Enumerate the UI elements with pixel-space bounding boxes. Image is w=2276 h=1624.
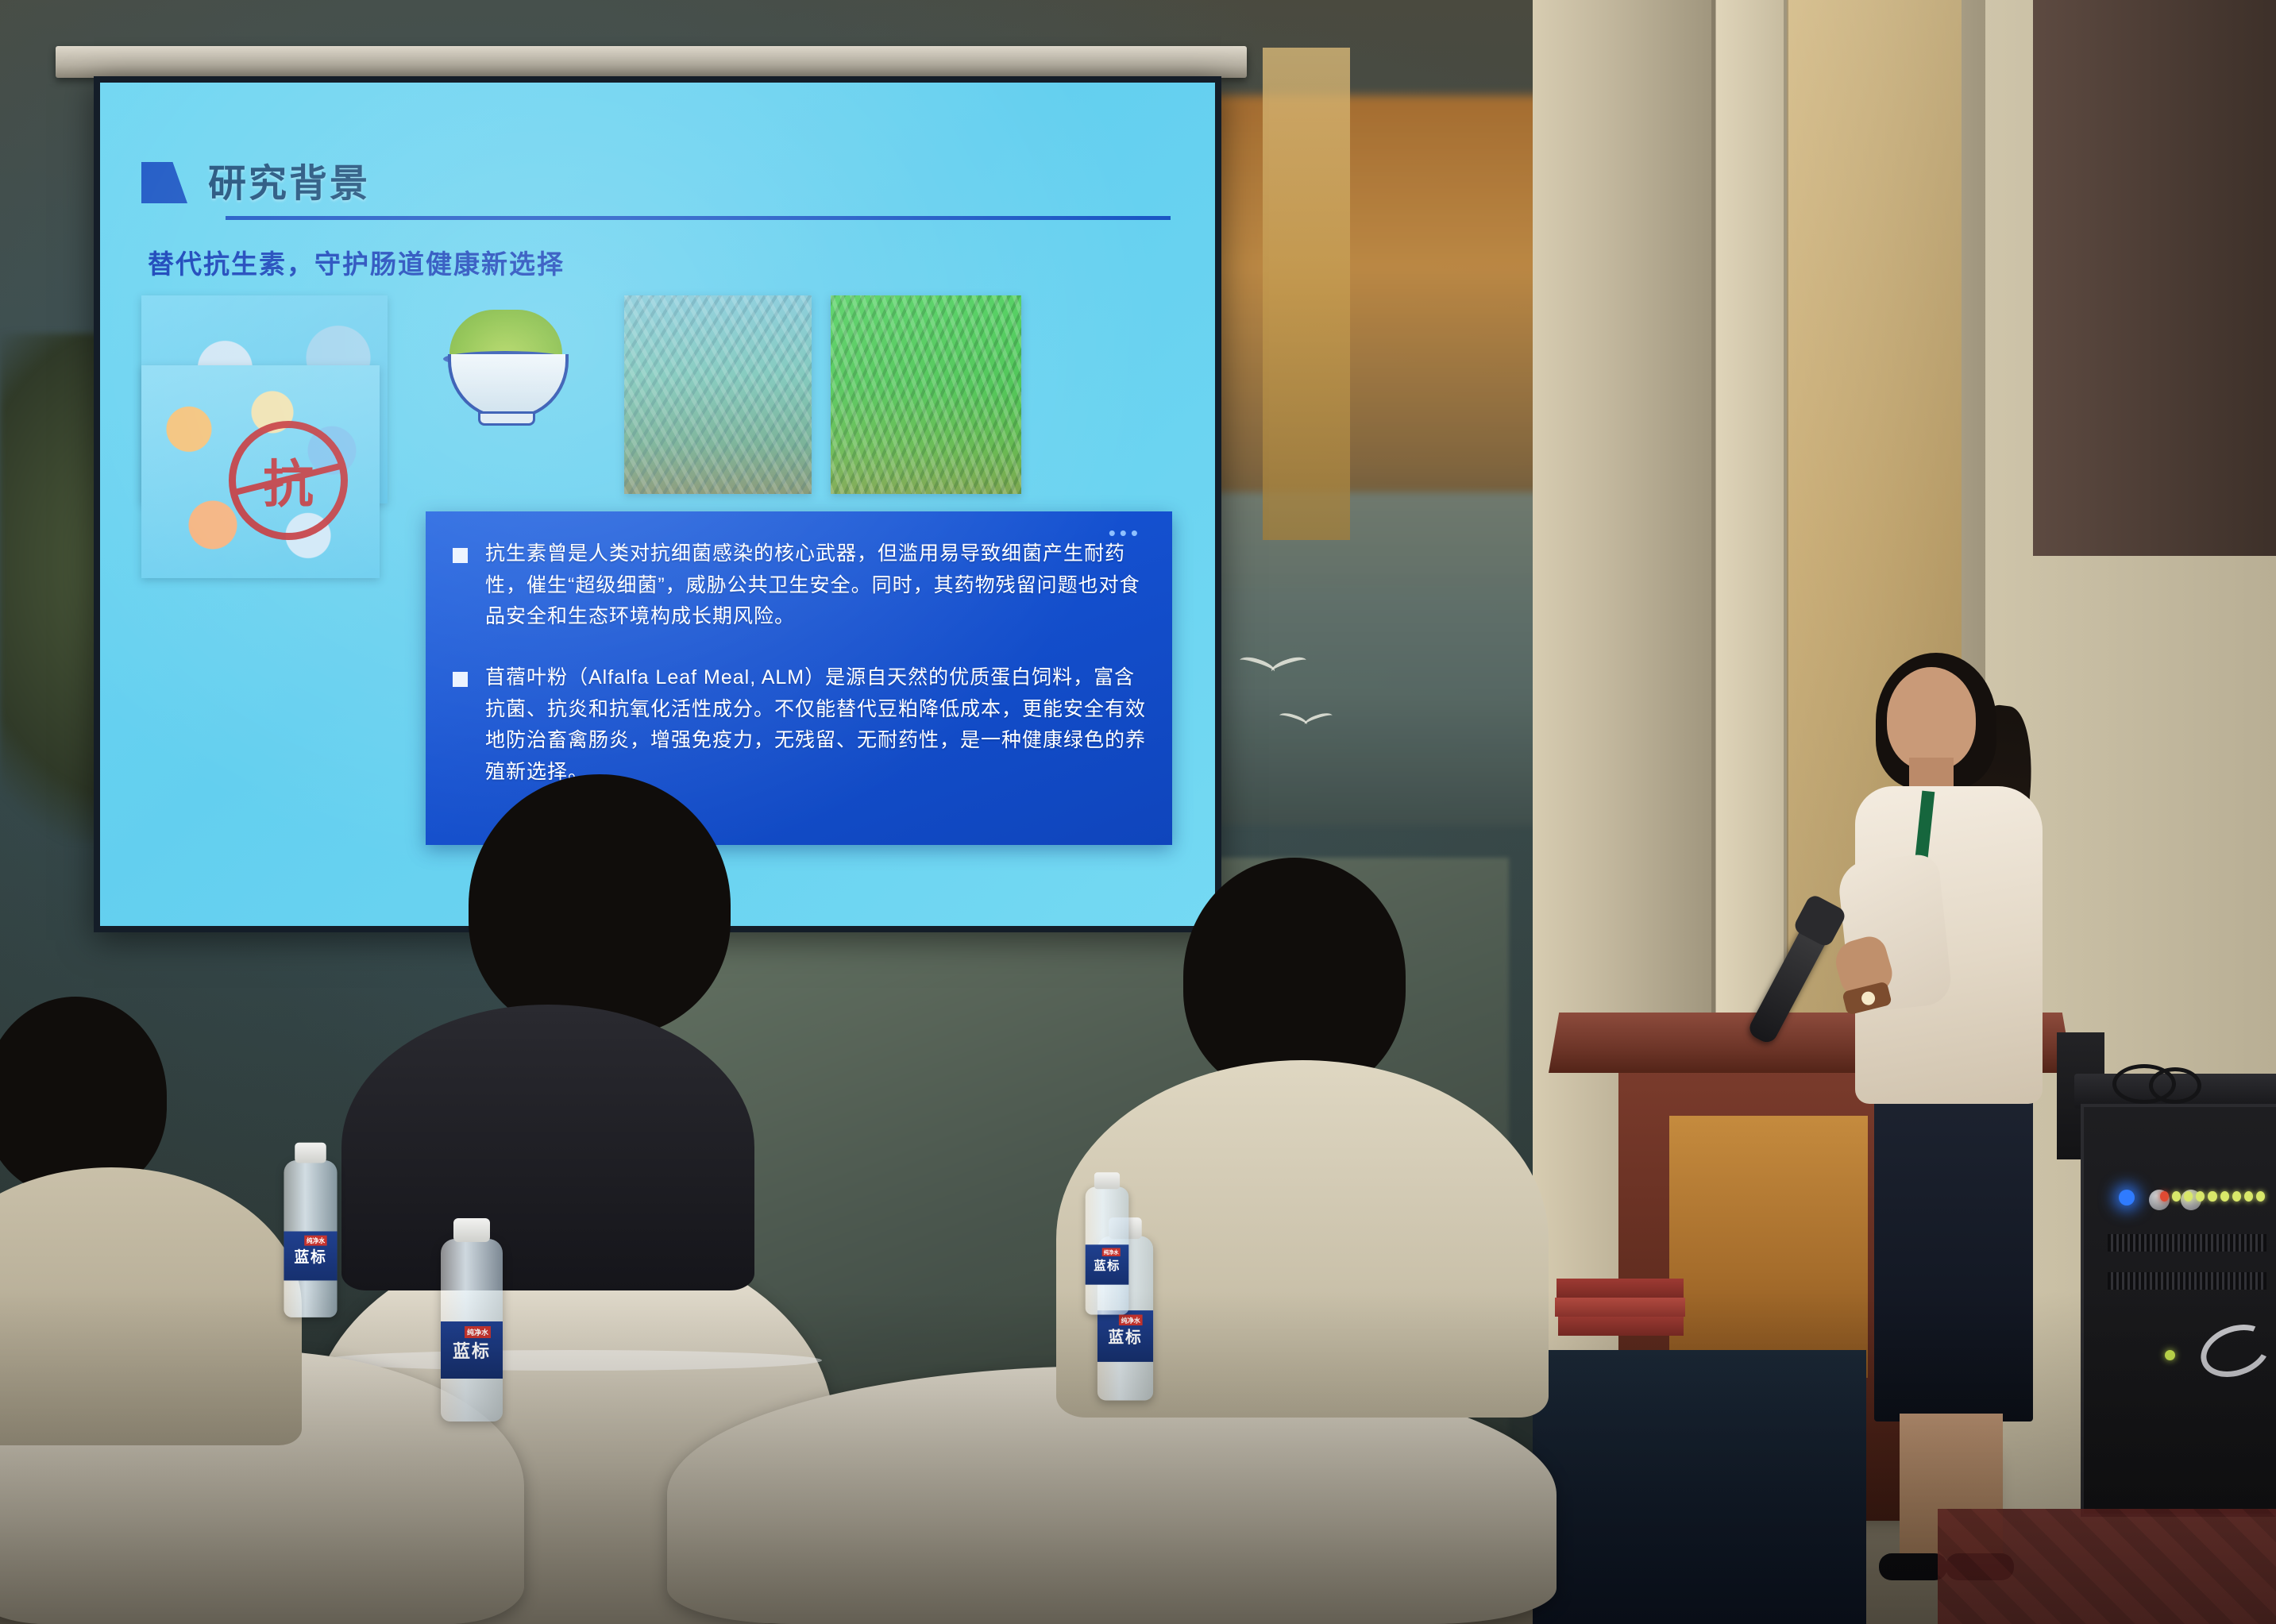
bullet-text: 苜蓿叶粉（Alfalfa Leaf Meal, ALM）是源自天然的优质蛋白饲料…: [485, 662, 1152, 788]
bottle-label-badge: 纯净水: [1102, 1248, 1121, 1257]
slide-title: 研究背景: [208, 165, 370, 203]
wall-gold-panel: [1263, 48, 1350, 540]
bottle-label-badge: 纯净水: [465, 1326, 491, 1338]
bottle-label: 纯净水 蓝标: [284, 1232, 337, 1281]
bottle-cap: [1094, 1172, 1120, 1189]
photo-scene: 研究背景 替代抗生素，守护肠道健康新选择 抗: [0, 0, 2276, 1624]
audio-equipment-rack[interactable]: [2081, 1104, 2276, 1517]
power-led-blue: [2119, 1190, 2135, 1205]
ban-stamp-icon: 抗: [229, 421, 348, 540]
bottle-label: 纯净水 蓝标: [1086, 1244, 1129, 1284]
water-bottle[interactable]: 纯净水 蓝标: [441, 1239, 503, 1421]
book-stack: [1557, 1279, 1684, 1298]
slide-bullet-item: 苜蓿叶粉（Alfalfa Leaf Meal, ALM）是源自天然的优质蛋白饲料…: [453, 662, 1152, 788]
bottle-cap: [453, 1218, 490, 1242]
audience-person: [341, 774, 754, 1283]
bottle-brand: 蓝标: [453, 1337, 491, 1363]
slide-header: 研究背景: [141, 162, 370, 203]
audience-person: [0, 997, 302, 1441]
head: [469, 774, 731, 1036]
bottle-label: 纯净水 蓝标: [441, 1321, 503, 1379]
head: [0, 997, 167, 1195]
bowl-body: [448, 354, 569, 419]
skirt: [1874, 1088, 2033, 1421]
level-meter-leds: [2160, 1191, 2265, 1202]
book-stack: [1558, 1317, 1684, 1336]
bullet-square-icon: [453, 548, 468, 563]
water-bottle[interactable]: 纯净水 蓝标: [1086, 1187, 1129, 1315]
title-underline: [226, 216, 1171, 220]
bottle-brand: 蓝标: [294, 1245, 326, 1267]
bottle-label: 纯净水 蓝标: [1097, 1310, 1153, 1362]
bottle-label-badge: 纯净水: [1119, 1315, 1143, 1326]
alfalfa-powder-bowl-photo: [426, 295, 584, 430]
slide-bullet-item: 抗生素曾是人类对抗细菌感染的核心武器，但滥用易导致细菌产生耐药性，催生“超级细菌…: [453, 538, 1152, 633]
bottle-label-badge: 纯净水: [304, 1236, 326, 1246]
antibiotic-ban-stamp-photo: 抗: [141, 365, 380, 578]
chair-band: [322, 1350, 822, 1371]
bottle-brand: 蓝标: [1094, 1256, 1121, 1273]
alfalfa-field-photo-2: [831, 295, 1021, 494]
bottle-brand: 蓝标: [1108, 1325, 1142, 1348]
cable-loop: [2149, 1067, 2201, 1104]
bottle-cap: [295, 1143, 326, 1163]
shoulders: [0, 1167, 302, 1445]
floor-carpet: [1938, 1509, 2276, 1624]
doorway-recess: [2033, 0, 2276, 556]
bullet-text: 抗生素曾是人类对抗细菌感染的核心武器，但滥用易导致细菌产生耐药性，催生“超级细菌…: [485, 538, 1152, 633]
slide-subtitle: 替代抗生素，守护肠道健康新选择: [148, 243, 565, 281]
status-led-green: [2165, 1350, 2175, 1360]
title-marker-icon: [141, 162, 187, 203]
book-stack: [1555, 1298, 1685, 1317]
head: [1887, 667, 1976, 770]
rack-vent: [2108, 1234, 2266, 1252]
rack-vent: [2108, 1272, 2266, 1290]
side-table: [1533, 1350, 1866, 1624]
screen-roller-housing: [56, 46, 1247, 78]
bowl-foot: [478, 411, 535, 426]
shoulders: [341, 1005, 754, 1290]
alfalfa-field-photo-1: [624, 295, 812, 494]
water-bottle[interactable]: 纯净水 蓝标: [284, 1160, 337, 1317]
bullet-square-icon: [453, 672, 468, 687]
